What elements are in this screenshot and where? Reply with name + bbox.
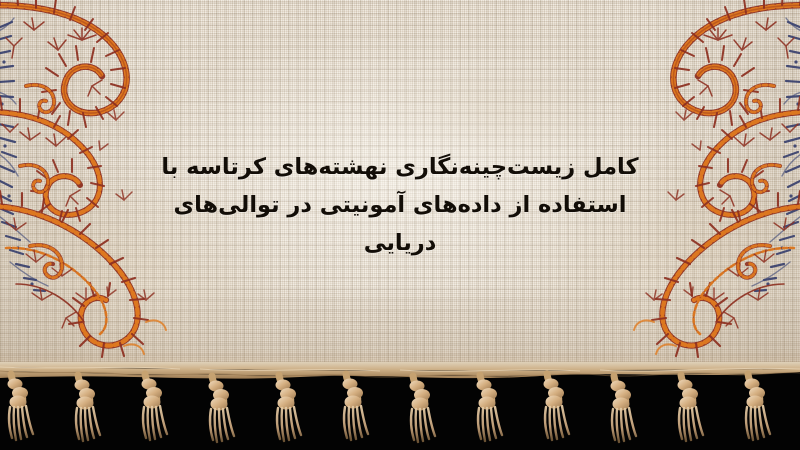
title-line-2: استفاده از داده‌های آمونیتی در توالی‌های [0,186,800,224]
black-background-band [0,370,800,450]
slide-title: کامل زیست‌چینه‌نگاری نهشته‌های کرتاسه با… [0,148,800,262]
title-line-1: کامل زیست‌چینه‌نگاری نهشته‌های کرتاسه با [0,148,800,186]
title-slide: کامل زیست‌چینه‌نگاری نهشته‌های کرتاسه با… [0,0,800,450]
title-line-3: دریایی [0,224,800,262]
